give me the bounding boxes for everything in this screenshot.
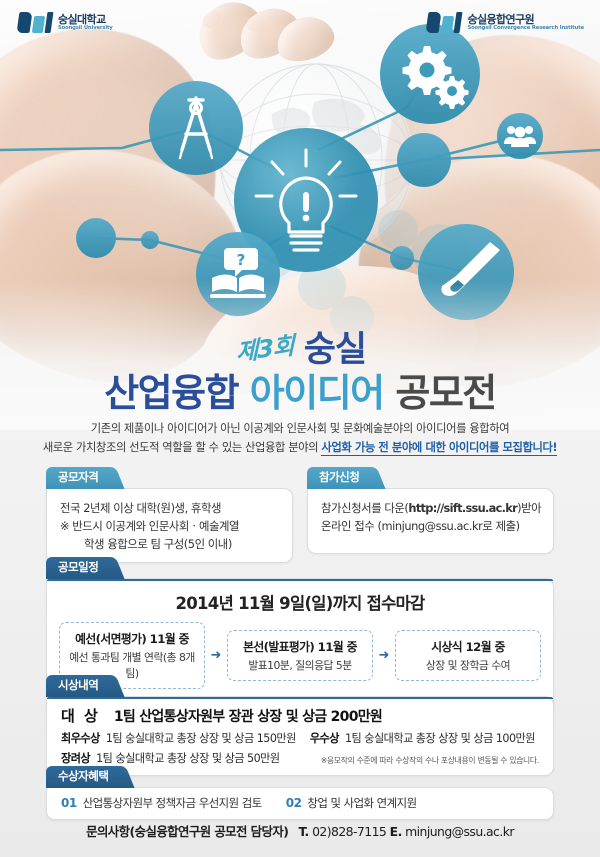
two-column-row: 공모자격 전국 2년제 이상 대학(원)생, 휴학생 ※ 반드시 이공계와 인문… (46, 466, 554, 563)
logo-left-english: Soongsil University (58, 26, 113, 31)
title-part-idea: 아이디어 (250, 371, 384, 415)
contact-email-label: E. (390, 824, 402, 839)
node-plain (76, 218, 116, 258)
panel-awards: 대 상 1팀 산업통상자원부 장관 상장 및 상금 200만원 최우수상 1팀 … (46, 696, 554, 776)
section-qualification: 공모자격 전국 2년제 이상 대학(원)생, 휴학생 ※ 반드시 이공계와 인문… (46, 466, 293, 563)
section-awards: 시상내역 대 상 1팀 산업통상자원부 장관 상장 및 상금 200만원 최우수… (46, 674, 554, 776)
tab-benefits: 수상자혜택 (46, 766, 121, 788)
benefit-text: 창업 및 사업화 연계지원 (307, 795, 416, 811)
benefits-row: 01 산업통상자원부 정책자금 우선지원 검토 02 창업 및 사업화 연계지원 (61, 795, 539, 811)
schedule-step: 시상식 12월 중 상장 및 장학금 수여 (395, 630, 541, 681)
tab-schedule: 공모일정 (46, 557, 111, 579)
title-brand: 숭실 (304, 333, 366, 368)
title-ordinal: 제3회 (236, 325, 294, 367)
awards-top-rule (47, 697, 553, 699)
application-prefix: 참가신청서를 다운( (321, 501, 408, 515)
qualification-line-1: 전국 2년제 이상 대학(원)생, 휴학생 (60, 499, 282, 517)
node-plain (397, 133, 451, 187)
logo-left-korean: 숭실대학교 (58, 14, 113, 26)
awards-row-text: 1팀 숭실대학교 총장 상장 및 상금 150만원 (106, 730, 296, 746)
awards-row-text: 1팀 숭실대학교 총장 상장 및 상금 50만원 (96, 750, 279, 766)
schedule-step-sub: 상장 및 장학금 수여 (400, 657, 536, 673)
contact-tel[interactable]: 02)828-7115 (312, 824, 386, 839)
title-part-contest: 공모전 (395, 371, 495, 415)
node-plain (390, 246, 414, 270)
logo-right-english: Soongsil Convergence Research Institute (467, 26, 584, 31)
application-suffix: )받아 (517, 501, 541, 515)
panel-benefits: 01 산업통상자원부 정책자금 우선지원 검토 02 창업 및 사업화 연계지원 (46, 787, 554, 820)
awards-note: ※응모작의 수준에 따라 수상작의 수나 포상내용이 변동될 수 있습니다. (321, 755, 539, 766)
awards-row-name: 최우수상 (61, 730, 100, 746)
network-graphic: ? (0, 0, 600, 340)
lead-paragraph: 기존의 제품이나 아이디어가 아닌 이공계와 인문사회 및 문화예술분야의 아이… (0, 420, 600, 457)
schedule-step: 본선(발표평가) 11월 중 발표10분, 질의응답 5분 (227, 630, 373, 681)
lead-line-1: 기존의 제품이나 아이디어가 아닌 이공계와 인문사회 및 문화예술분야의 아이… (0, 420, 600, 439)
awards-grand-label: 대 상 (61, 705, 100, 726)
compass-node (149, 81, 243, 175)
benefit-number: 02 (286, 796, 302, 810)
logo-right-korean: 숭실융합연구원 (467, 14, 584, 26)
awards-row: 최우수상 1팀 숭실대학교 총장 상장 및 상금 150만원 우수상 1팀 숭실… (61, 730, 539, 746)
panel-application: 참가신청서를 다운(http://sift.ssu.ac.kr)받아 온라인 접… (307, 488, 554, 554)
logo-soongsil-university: 숭실대학교 Soongsil University (18, 12, 113, 33)
ssu-logo-mark-icon (18, 12, 52, 33)
schedule-top-rule (47, 579, 553, 581)
awards-grand-text: 1팀 산업통상자원부 장관 상장 및 상금 200만원 (114, 706, 382, 726)
svg-text:?: ? (237, 251, 246, 269)
schedule-step-sub: 발표10분, 질의응답 5분 (232, 657, 368, 673)
application-line-2: 온라인 접수 (minjung@ssu.ac.kr로 제출) (321, 517, 543, 535)
arrow-right-icon: ➜ (205, 649, 227, 662)
logo-convergence-institute: 숭실융합연구원 Soongsil Convergence Research In… (427, 12, 584, 33)
awards-row-text: 1팀 숭실대학교 총장 상장 및 상금 100만원 (345, 730, 535, 746)
application-line-1: 참가신청서를 다운(http://sift.ssu.ac.kr)받아 (321, 499, 543, 517)
schedule-step-title: 본선(발표평가) 11월 중 (232, 638, 368, 655)
schedule-step-title: 예선(서면평가) 11월 중 (64, 630, 200, 647)
contact-email[interactable]: minjung@ssu.ac.kr (405, 824, 514, 839)
contact-line: 문의사항(숭실융합연구원 공모전 담당자) T. 02)828-7115 E. … (0, 822, 600, 840)
section-application: 참가신청 참가신청서를 다운(http://sift.ssu.ac.kr)받아 … (307, 466, 554, 563)
schedule-step-title: 시상식 12월 중 (400, 638, 536, 655)
poster-title: 제3회 숭실 산업융합 아이디어 공모전 (0, 322, 600, 416)
node-plain (141, 231, 159, 249)
scri-logo-mark-icon (427, 12, 461, 33)
tab-application: 참가신청 (307, 467, 372, 489)
lead-line-2-plain: 새로운 가치창조의 선도적 역할을 할 수 있는 산업융합 분야의 (43, 441, 318, 454)
contact-tel-label: T. (298, 824, 308, 839)
tab-qualification: 공모자격 (46, 467, 111, 489)
awards-row-name: 우수상 (310, 730, 339, 746)
awards-row-name: 장려상 (61, 750, 90, 766)
benefit-text: 산업통상자원부 정책자금 우선지원 검토 (83, 795, 262, 811)
arrow-right-icon: ➜ (373, 649, 395, 662)
schedule-deadline: 2014년 11월 9일(일)까지 접수마감 (59, 588, 541, 622)
section-benefits: 수상자혜택 01 산업통상자원부 정책자금 우선지원 검토 02 창업 및 사업… (46, 765, 554, 820)
awards-grand-prize: 대 상 1팀 산업통상자원부 장관 상장 및 상금 200만원 (61, 705, 539, 726)
awards-row: 장려상 1팀 숭실대학교 총장 상장 및 상금 50만원 ※응모작의 수준에 따… (61, 750, 539, 766)
tab-awards: 시상내역 (46, 675, 111, 697)
panel-qualification: 전국 2년제 이상 대학(원)생, 휴학생 ※ 반드시 이공계와 인문사회ㆍ예술… (46, 488, 293, 563)
benefit-number: 01 (61, 796, 77, 810)
lead-line-2: 새로운 가치창조의 선도적 역할을 할 수 있는 산업융합 분야의 사업화 가능… (0, 439, 600, 458)
qualification-line-2: ※ 반드시 이공계와 인문사회ㆍ예술계열 (60, 517, 282, 535)
application-url[interactable]: http://sift.ssu.ac.kr (408, 501, 517, 515)
poster: ? 숭실대학교 (0, 0, 600, 857)
qualification-line-3: 학생 융합으로 팀 구성(5인 이내) (60, 535, 282, 553)
lead-line-2-highlight: 사업화 가능 전 분야에 대한 아이디어를 모집합니다! (321, 441, 557, 456)
title-part-industry: 산업융합 (104, 371, 238, 415)
contact-label: 문의사항(숭실융합연구원 공모전 담당자) (86, 824, 288, 839)
